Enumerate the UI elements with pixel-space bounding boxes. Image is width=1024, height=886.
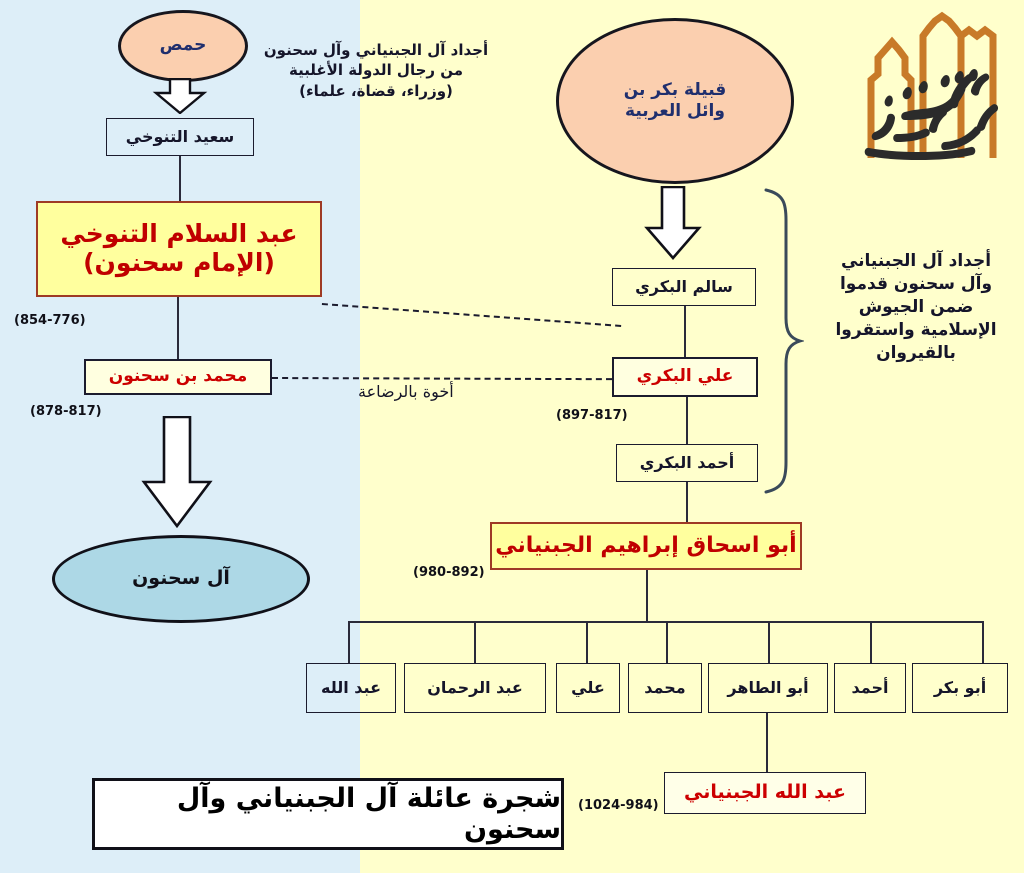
node-label: محمد بن سحنون xyxy=(109,367,248,387)
brace-bakri-group xyxy=(760,186,804,496)
connector-child-drop xyxy=(666,621,668,664)
note-ancestors-aghlabid: أجداد آل الجبنياني وآل سحنون من رجال الد… xyxy=(262,40,490,101)
date-abd-al-salam: (854-776) xyxy=(14,313,86,328)
node-label: علي البكري xyxy=(637,367,734,387)
date-abd-allah-al-jabnyani: (1024-984) xyxy=(578,798,659,813)
date-muhammad-bin-sahnoun: (878-817) xyxy=(30,404,102,419)
origin-ellipse-bakr-tribe: قبيلة بكر بن وائل العربية xyxy=(556,18,794,184)
node-child-abd-allah[interactable]: عبد الله xyxy=(306,663,396,713)
block-arrow-muhammad-to-family xyxy=(140,416,214,528)
node-label: علي xyxy=(571,679,605,697)
node-label: عبد السلام التنوخي (الإمام سحنون) xyxy=(60,220,297,278)
node-abd-allah-al-jabnyani[interactable]: عبد الله الجبنياني xyxy=(664,772,866,814)
node-child-abd-al-rahman[interactable]: عبد الرحمان xyxy=(404,663,546,713)
node-label: أحمد xyxy=(852,679,889,697)
connector-abdsalam-to-muhammad xyxy=(177,297,179,360)
diagram-title: شجرة عائلة آل الجبنياني وآل سحنون xyxy=(95,783,561,845)
connector-abutahir-to-abdallah xyxy=(766,713,768,773)
connector-ali-to-ahmed xyxy=(686,397,688,445)
node-child-ahmed[interactable]: أحمد xyxy=(834,663,906,713)
node-label: عبد الرحمان xyxy=(427,679,523,697)
node-said-al-tanukhi[interactable]: سعيد التنوخي xyxy=(106,118,254,156)
date-ali-al-bakri: (897-817) xyxy=(556,408,628,423)
connector-abuishaq-drop xyxy=(646,570,648,622)
node-label: سالم البكري xyxy=(635,278,733,296)
node-label: عبد الله الجبنياني xyxy=(684,782,846,804)
down-arrow-icon xyxy=(140,416,214,528)
date-abu-ishaq: (980-892) xyxy=(413,565,485,580)
node-label: أبو اسحاق إبراهيم الجبنياني xyxy=(495,533,796,558)
node-label: أبو بكر xyxy=(934,679,986,697)
origin-bakr-label: قبيلة بكر بن وائل العربية xyxy=(624,80,727,123)
block-arrow-bakr-to-salem xyxy=(644,186,702,260)
family-ellipse-al-sahnoun: آل سحنون xyxy=(52,535,310,623)
node-abu-ishaq-ibrahim-al-jabnyani[interactable]: أبو اسحاق إبراهيم الجبنياني xyxy=(490,522,802,570)
node-label: عبد الله xyxy=(321,679,381,697)
connector-child-drop xyxy=(768,621,770,664)
node-muhammad-bin-sahnoun[interactable]: محمد بن سحنون xyxy=(84,359,272,395)
node-child-ali[interactable]: علي xyxy=(556,663,620,713)
connector-said-to-abdsalam xyxy=(179,156,181,202)
connector-child-drop xyxy=(348,621,350,664)
logo-icon xyxy=(845,8,1015,168)
connector-salem-to-ali xyxy=(684,306,686,358)
node-ahmed-al-bakri[interactable]: أحمد البكري xyxy=(616,444,758,482)
curly-brace-icon xyxy=(760,186,804,496)
connector-ahmed-to-abuishaq xyxy=(686,482,688,523)
node-child-abu-al-tahir[interactable]: أبو الطاهر xyxy=(708,663,828,713)
node-child-muhammad[interactable]: محمد xyxy=(628,663,702,713)
diagram-title-banner: شجرة عائلة آل الجبنياني وآل سحنون xyxy=(92,778,564,850)
node-label: أبو الطاهر xyxy=(727,679,808,697)
family-tree-diagram: حمص سعيد التنوخي عبد السلام التنوخي (الإ… xyxy=(0,0,1024,886)
origin-ellipse-homs: حمص xyxy=(118,10,248,82)
connector-child-drop xyxy=(586,621,588,664)
node-salem-al-bakri[interactable]: سالم البكري xyxy=(612,268,756,306)
node-label: محمد xyxy=(644,679,685,697)
family-label: آل سحنون xyxy=(132,567,230,591)
connector-child-drop xyxy=(982,621,984,664)
connector-child-drop xyxy=(870,621,872,664)
note-ancestors-kairouan: أجداد آل الجبنياني وآل سحنون قدموا ضمن ا… xyxy=(818,250,1014,365)
node-label: سعيد التنوخي xyxy=(126,128,234,146)
node-ali-al-bakri[interactable]: علي البكري xyxy=(612,357,758,397)
node-child-abu-bakr[interactable]: أبو بكر xyxy=(912,663,1008,713)
block-arrow-homs-to-said xyxy=(152,78,208,114)
label-milk-kinship: أخوة بالرضاعة xyxy=(358,382,454,401)
origin-homs-label: حمص xyxy=(160,35,207,56)
sfax-history-logo xyxy=(845,8,1015,168)
node-label: أحمد البكري xyxy=(640,454,735,472)
connector-child-drop xyxy=(474,621,476,664)
node-abd-al-salam-al-tanukhi[interactable]: عبد السلام التنوخي (الإمام سحنون) xyxy=(36,201,322,297)
down-arrow-icon xyxy=(644,186,702,260)
down-arrow-icon xyxy=(152,78,208,114)
